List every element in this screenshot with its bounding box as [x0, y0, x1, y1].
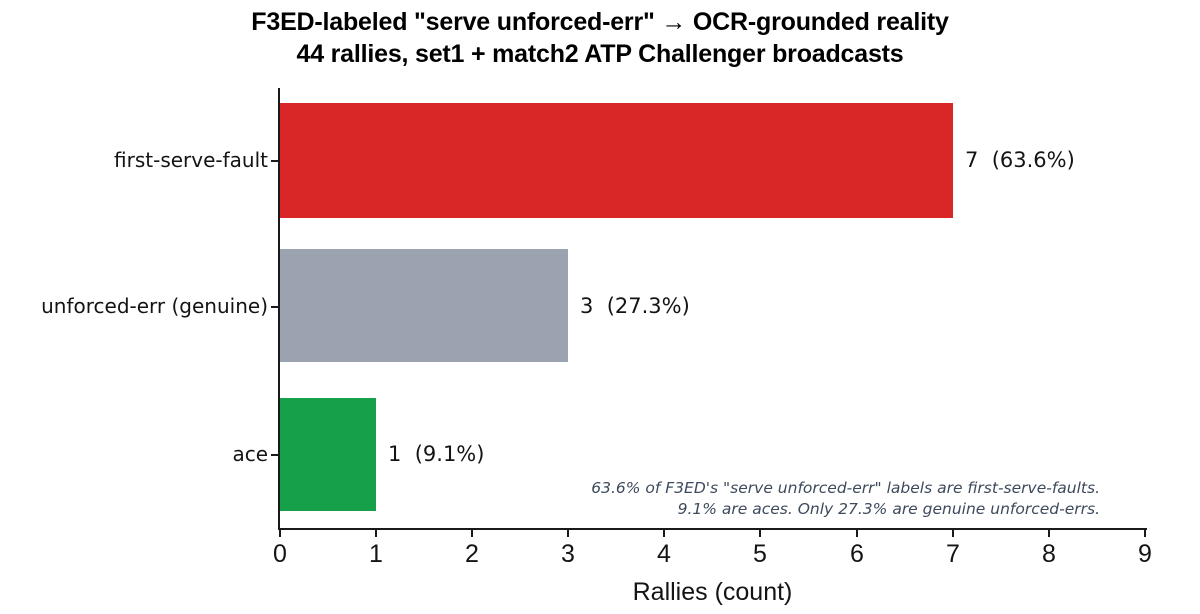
y-tick-label-unforced-err-genuine: unforced-err (genuine): [10, 294, 268, 318]
chart-annotation: 63.6% of F3ED's "serve unforced-err" lab…: [400, 478, 1100, 520]
x-tick-label-3: 3: [561, 540, 575, 569]
x-axis-spine: [278, 528, 1147, 530]
annotation-line-2: 9.1% are aces. Only 27.3% are genuine un…: [400, 499, 1100, 520]
annotation-line-1: 63.6% of F3ED's "serve unforced-err" lab…: [400, 478, 1100, 499]
x-axis-label: Rallies (count): [280, 578, 1145, 607]
x-tick-mark-0: [279, 528, 281, 537]
x-tick-mark-3: [567, 528, 569, 537]
plot-area: 7 (63.6%) 3 (27.3%) 1 (9.1%) 0 1 2 3 4 5…: [280, 88, 1145, 528]
chart-figure: F3ED-labeled "serve unforced-err" → OCR-…: [0, 0, 1200, 614]
chart-title: F3ED-labeled "serve unforced-err" → OCR-…: [0, 6, 1200, 70]
bar-unforced-err-genuine: [280, 249, 568, 362]
x-tick-label-7: 7: [946, 540, 960, 569]
bar-ace: [280, 398, 376, 511]
x-tick-label-8: 8: [1042, 540, 1056, 569]
x-tick-label-1: 1: [369, 540, 383, 569]
y-tick-mark-2: [271, 454, 279, 456]
x-tick-label-0: 0: [273, 540, 287, 569]
x-tick-mark-2: [471, 528, 473, 537]
x-tick-mark-8: [1048, 528, 1050, 537]
x-tick-label-2: 2: [465, 540, 479, 569]
x-tick-label-6: 6: [850, 540, 864, 569]
x-tick-label-5: 5: [753, 540, 767, 569]
x-tick-label-9: 9: [1138, 540, 1152, 569]
bar-value-label-ace: 1 (9.1%): [388, 442, 484, 466]
chart-title-line-2: 44 rallies, set1 + match2 ATP Challenger…: [0, 38, 1200, 70]
y-tick-mark-0: [271, 160, 279, 162]
x-tick-mark-6: [856, 528, 858, 537]
y-tick-label-first-serve-fault: first-serve-fault: [10, 148, 268, 172]
y-tick-label-ace: ace: [10, 442, 268, 466]
x-tick-mark-4: [663, 528, 665, 537]
x-tick-mark-9: [1144, 528, 1146, 537]
bar-value-label-unforced-err-genuine: 3 (27.3%): [580, 294, 690, 318]
chart-title-line-1: F3ED-labeled "serve unforced-err" → OCR-…: [0, 6, 1200, 38]
x-tick-label-4: 4: [657, 540, 671, 569]
y-tick-mark-1: [271, 306, 279, 308]
x-tick-mark-5: [759, 528, 761, 537]
bar-value-label-first-serve-fault: 7 (63.6%): [965, 148, 1075, 172]
bar-first-serve-fault: [280, 103, 953, 218]
x-tick-mark-1: [375, 528, 377, 537]
x-tick-mark-7: [952, 528, 954, 537]
